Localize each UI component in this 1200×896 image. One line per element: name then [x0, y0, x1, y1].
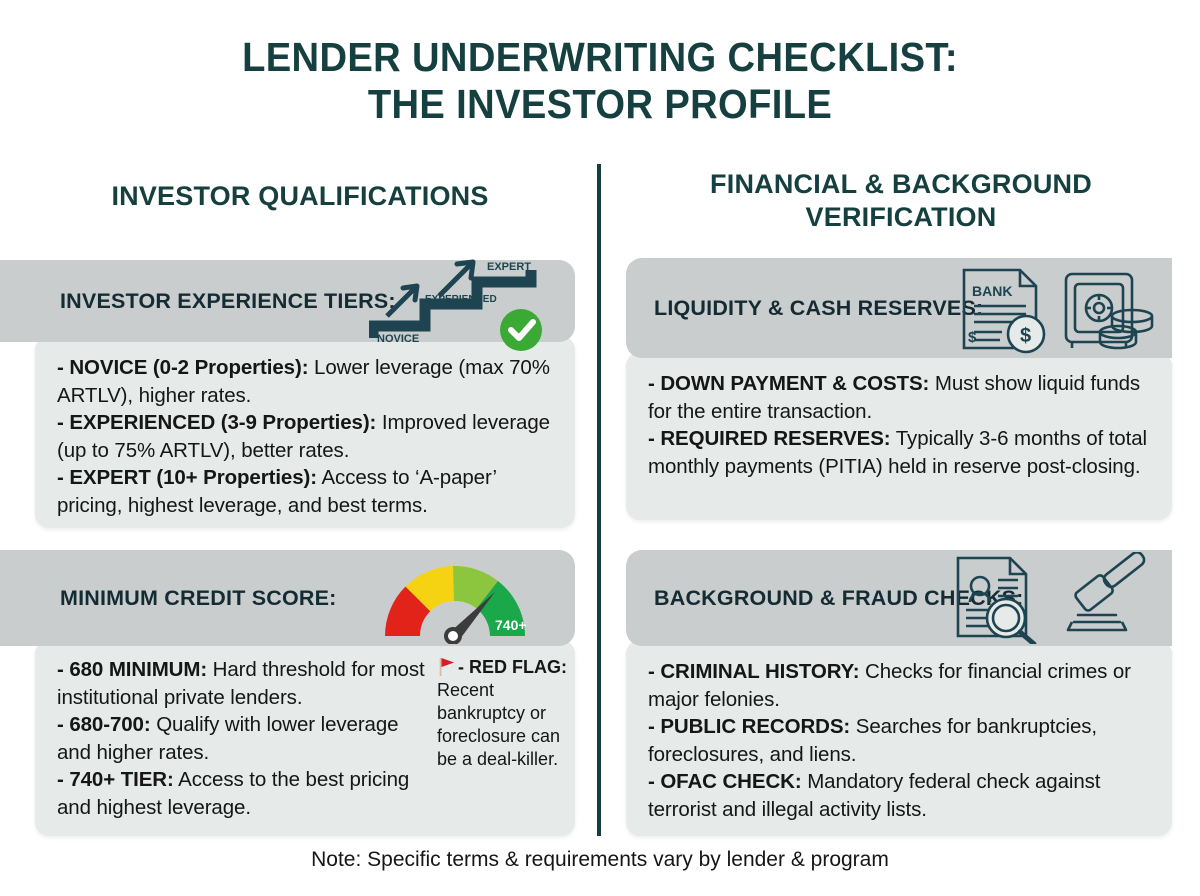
- list-item-label: - REQUIRED RESERVES:: [648, 427, 891, 450]
- credit-score-gauge-icon: 740+: [365, 552, 545, 644]
- red-flag-text: Recent bankruptcy or foreclosure can be …: [437, 680, 560, 769]
- right-column-header: FINANCIAL & BACKGROUND VERIFICATION: [618, 168, 1184, 234]
- left-column-header: INVESTOR QUALIFICATIONS: [20, 180, 580, 213]
- icon-label-expert: EXPERT: [487, 261, 531, 273]
- list-item-label: - NOVICE (0-2 Properties):: [57, 356, 308, 379]
- card-header-label: MINIMUM CREDIT SCORE:: [60, 585, 337, 611]
- card-header-label: LIQUIDITY & CASH RESERVES:: [654, 295, 983, 321]
- card-body-credit-score: - 680 MINIMUM: Hard threshold for most i…: [35, 640, 575, 836]
- card-body-background-checks: - CRIMINAL HISTORY: Checks for financial…: [626, 640, 1172, 836]
- list-item-label: - DOWN PAYMENT & COSTS:: [648, 372, 929, 395]
- credit-score-list: - 680 MINIMUM: Hard threshold for most i…: [57, 656, 429, 821]
- page-title: LENDER UNDERWRITING CHECKLIST: THE INVES…: [42, 34, 1158, 128]
- card-header-investor-experience: INVESTOR EXPERIENCE TIERS: NOVICE: [0, 260, 575, 342]
- icon-label-novice: NOVICE: [377, 333, 419, 345]
- staircase-growth-icon: NOVICE EXPERIENCED EXPERT: [369, 252, 569, 352]
- column-divider: [597, 164, 601, 836]
- card-header-credit-score: MINIMUM CREDIT SCORE:: [0, 550, 575, 646]
- experience-tier-list: - NOVICE (0-2 Properties): Lower leverag…: [57, 354, 559, 519]
- svg-text:$: $: [968, 329, 977, 346]
- icon-label-experienced: EXPERIENCED: [425, 294, 497, 305]
- card-body-liquidity: - DOWN PAYMENT & COSTS: Must show liquid…: [626, 352, 1172, 520]
- list-item-label: - EXPERT (10+ Properties):: [57, 466, 317, 489]
- red-flag-label: - RED FLAG:: [458, 656, 567, 679]
- card-header-background-checks: BACKGROUND & FRAUD CHECKS:: [626, 550, 1172, 646]
- list-item-label: - CRIMINAL HISTORY:: [648, 660, 859, 683]
- red-flag-icon: [437, 656, 455, 678]
- page-title-line2: THE INVESTOR PROFILE: [42, 81, 1158, 128]
- list-item-label: - OFAC CHECK:: [648, 770, 802, 793]
- liquidity-list: - DOWN PAYMENT & COSTS: Must show liquid…: [648, 370, 1154, 480]
- profile-search-gavel-icon: [944, 552, 1154, 644]
- card-header-liquidity: LIQUIDITY & CASH RESERVES: BANK: [626, 258, 1172, 358]
- infographic-page: LENDER UNDERWRITING CHECKLIST: THE INVES…: [0, 0, 1200, 896]
- card-body-investor-experience: - NOVICE (0-2 Properties): Lower leverag…: [35, 336, 575, 528]
- check-circle: [500, 309, 542, 351]
- red-flag-note: - RED FLAG: Recent bankruptcy or foreclo…: [435, 656, 575, 821]
- page-title-line1: LENDER UNDERWRITING CHECKLIST:: [242, 34, 958, 80]
- svg-text:$: $: [1020, 325, 1031, 347]
- bank-statement-safe-icon: BANK $ $: [942, 262, 1162, 354]
- background-checks-list: - CRIMINAL HISTORY: Checks for financial…: [648, 658, 1154, 823]
- gauge-value-label: 740+: [495, 617, 527, 633]
- list-item-label: - 740+ TIER:: [57, 768, 174, 791]
- list-item-label: - 680 MINIMUM:: [57, 658, 207, 681]
- list-item-label: - PUBLIC RECORDS:: [648, 715, 850, 738]
- footer-note: Note: Specific terms & requirements vary…: [0, 848, 1200, 872]
- list-item-label: - 680-700:: [57, 713, 151, 736]
- card-header-label: INVESTOR EXPERIENCE TIERS:: [60, 288, 396, 314]
- list-item-label: - EXPERIENCED (3-9 Properties):: [57, 411, 376, 434]
- icon-label-bank: BANK: [972, 283, 1012, 299]
